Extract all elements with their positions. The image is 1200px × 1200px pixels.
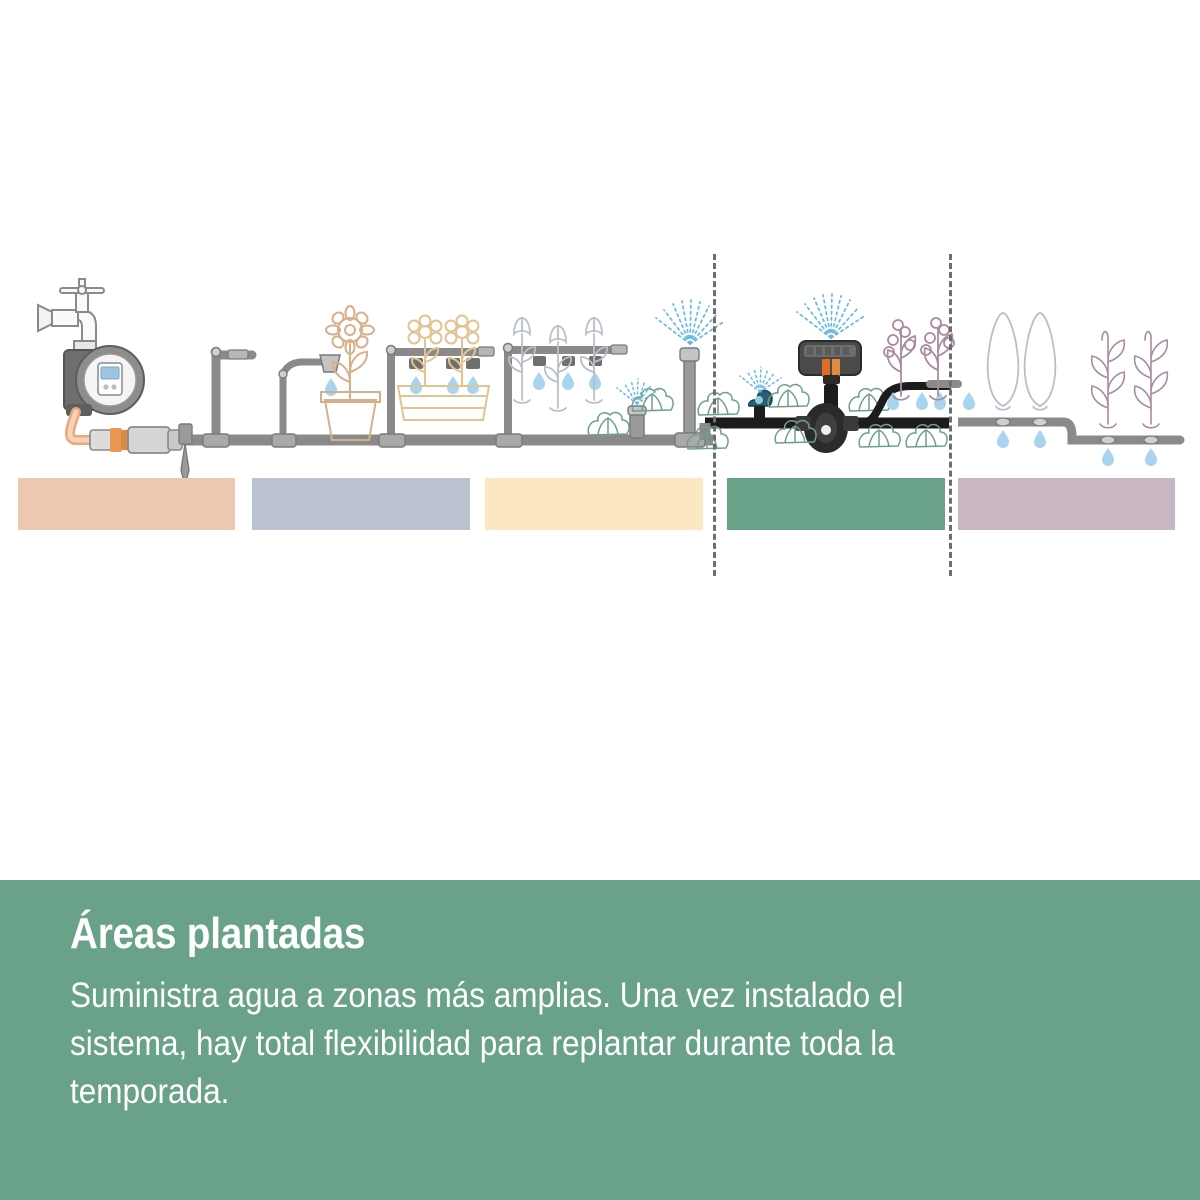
zone-planted-areas[interactable]	[727, 478, 945, 530]
water-timer	[64, 346, 144, 416]
pressure-reducer	[90, 427, 182, 453]
highlight-boundary-right	[949, 254, 952, 576]
footer-description: Suministra agua a zonas más amplias. Una…	[70, 972, 1024, 1117]
garden-tap	[38, 279, 104, 350]
window-box-with-flowers	[379, 316, 494, 448]
topiary-shrubs-drip-line	[958, 313, 1063, 448]
irrigation-diagram	[0, 0, 1200, 880]
zone-planters[interactable]	[485, 478, 703, 530]
zone-potted-plants[interactable]	[18, 478, 235, 530]
oscillating-sprinkler	[795, 294, 866, 453]
footer-caption-panel: Áreas plantadas Suministra agua a zonas …	[0, 880, 1200, 1200]
riser-arm-connector	[203, 348, 252, 448]
micro-sprinkler-green-zone	[740, 367, 781, 424]
page-root: Áreas plantadas Suministra agua a zonas …	[0, 0, 1200, 1200]
ground-stake	[179, 424, 192, 486]
zone-hedges-beds[interactable]	[958, 478, 1175, 530]
potted-sunflower-with-dripper	[272, 306, 380, 447]
berry-bush-drip-line	[862, 318, 975, 423]
leafy-shrub-drip-line	[1063, 332, 1180, 466]
zone-hanging-baskets[interactable]	[252, 478, 470, 530]
footer-title: Áreas plantadas	[70, 910, 1003, 958]
irrigation-diagram-svg	[0, 0, 1200, 880]
highlight-boundary-left	[713, 254, 716, 576]
